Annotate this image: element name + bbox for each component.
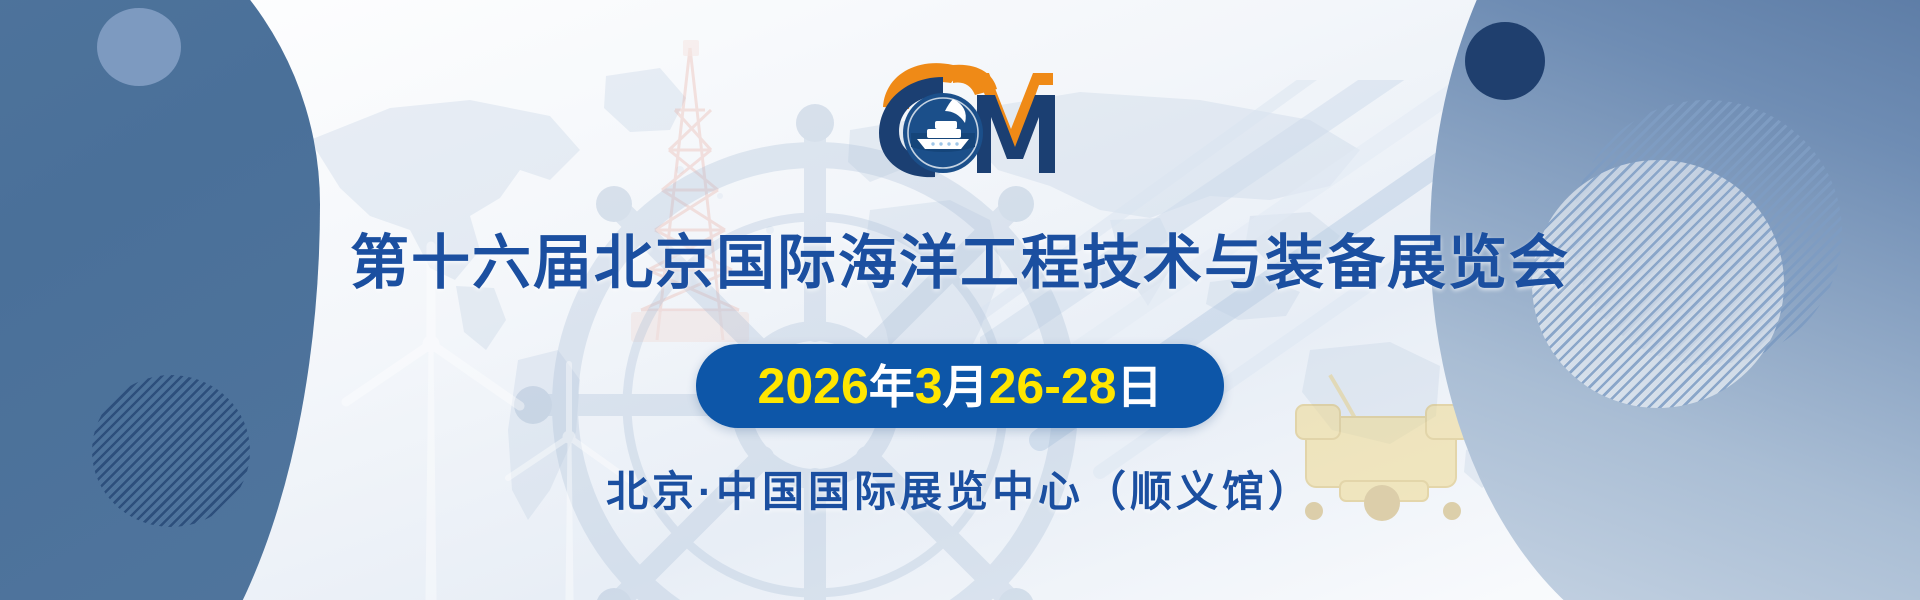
date-pill-container: 2026年3月26-28日 (0, 344, 1920, 428)
venue-text: 北京·中国国际展览中心（顺义馆） (0, 458, 1920, 519)
event-banner: 第十六届北京国际海洋工程技术与装备展览会 2026年3月26-28日 北京·中国… (0, 0, 1920, 600)
date-year-number: 2026 (758, 358, 869, 414)
page-title: 第十六届北京国际海洋工程技术与装备展览会 (0, 226, 1920, 300)
event-date-badge: 2026年3月26-28日 (696, 344, 1225, 428)
date-day-char: 日 (1116, 361, 1162, 413)
date-year-char: 年 (869, 361, 915, 413)
banner-content: 第十六届北京国际海洋工程技术与装备展览会 2026年3月26-28日 北京·中国… (0, 0, 1920, 600)
com-logo (865, 55, 1065, 180)
date-month-char: 月 (943, 361, 989, 413)
date-month-number: 3 (915, 358, 943, 414)
date-day-number: 26-28 (989, 358, 1117, 414)
